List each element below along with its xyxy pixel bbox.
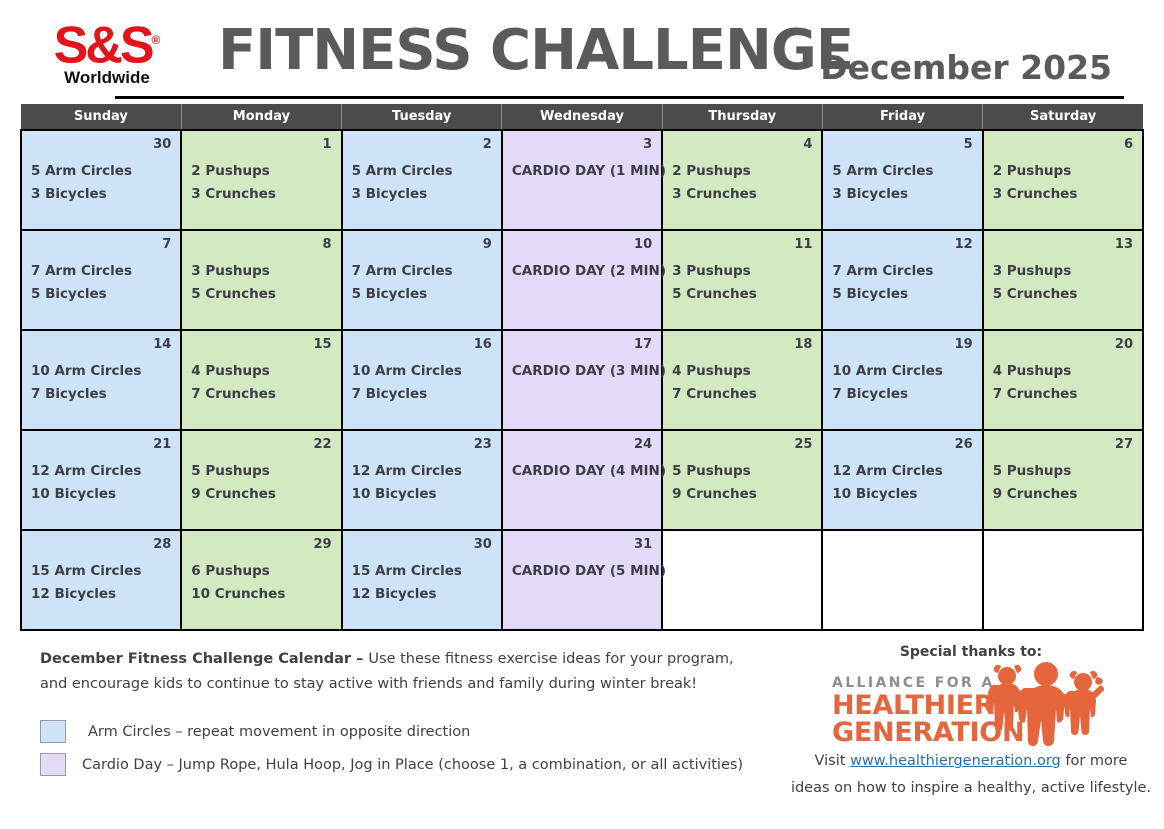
day-entries: 2 Pushups3 Crunches (993, 160, 1133, 206)
day-entry: 5 Bicycles (352, 283, 492, 306)
day-entry: 10 Arm Circles (31, 360, 171, 383)
day-number: 11 (672, 237, 812, 253)
day-number: 14 (31, 337, 171, 353)
day-entry: 15 Arm Circles (31, 560, 171, 583)
day-entries: 4 Pushups7 Crunches (672, 360, 812, 406)
day-entries: 12 Arm Circles10 Bicycles (31, 460, 171, 506)
calendar-day-cell-28[interactable]: 2815 Arm Circles12 Bicycles (21, 530, 181, 630)
ss-logo-mark: S&S® (54, 16, 161, 69)
day-entry: 5 Pushups (993, 460, 1133, 483)
day-entry: 10 Bicycles (352, 483, 492, 506)
day-entry: 4 Pushups (672, 360, 812, 383)
visit-text-line2: ideas on how to inspire a healthy, activ… (778, 777, 1164, 800)
day-entries: 5 Arm Circles3 Bicycles (31, 160, 171, 206)
day-number: 10 (512, 237, 652, 253)
calendar-day-cell-15[interactable]: 154 Pushups7 Crunches (181, 330, 341, 430)
day-entries: 10 Arm Circles7 Bicycles (352, 360, 492, 406)
day-entries: 12 Arm Circles10 Bicycles (832, 460, 972, 506)
day-entry: 7 Arm Circles (352, 260, 492, 283)
day-entry: 2 Pushups (672, 160, 812, 183)
day-entry: 3 Pushups (191, 260, 331, 283)
calendar-day-cell-empty (822, 530, 982, 630)
day-entries: 7 Arm Circles5 Bicycles (832, 260, 972, 306)
day-entry: 7 Bicycles (352, 383, 492, 406)
calendar-day-cell-26[interactable]: 2612 Arm Circles10 Bicycles (822, 430, 982, 530)
weekday-header-thursday: Thursday (662, 104, 822, 130)
day-entry: 3 Crunches (993, 183, 1133, 206)
page-footer: December Fitness Challenge Calendar – Us… (0, 634, 1164, 829)
calendar-day-cell-27[interactable]: 275 Pushups9 Crunches (983, 430, 1143, 530)
healthiergeneration-link[interactable]: www.healthiergeneration.org (850, 753, 1061, 769)
day-number: 7 (31, 237, 171, 253)
day-entry: 10 Bicycles (31, 483, 171, 506)
day-entry: 6 Pushups (191, 560, 331, 583)
ss-logo-text: S&S (54, 17, 152, 75)
legend: Arm Circles – repeat movement in opposit… (40, 715, 770, 781)
calendar-day-cell-8[interactable]: 83 Pushups5 Crunches (181, 230, 341, 330)
calendar-day-cell-16[interactable]: 1610 Arm Circles7 Bicycles (342, 330, 502, 430)
day-entry: 3 Bicycles (832, 183, 972, 206)
day-entry: 10 Bicycles (832, 483, 972, 506)
day-entry: 9 Crunches (993, 483, 1133, 506)
day-entry: 7 Bicycles (832, 383, 972, 406)
day-entries: CARDIO DAY (1 MIN) (512, 160, 652, 183)
day-entries: 7 Arm Circles5 Bicycles (352, 260, 492, 306)
legend-swatch-purple (40, 753, 66, 776)
day-number: 3 (512, 137, 652, 153)
day-number: 15 (191, 337, 331, 353)
day-number: 24 (512, 437, 652, 453)
calendar-day-cell-1[interactable]: 12 Pushups3 Crunches (181, 130, 341, 230)
page-title: FITNESS CHALLENGE (218, 18, 853, 83)
day-entry: 10 Arm Circles (832, 360, 972, 383)
day-number: 1 (191, 137, 331, 153)
day-entry: 5 Arm Circles (31, 160, 171, 183)
day-number: 23 (352, 437, 492, 453)
day-entries: 2 Pushups3 Crunches (672, 160, 812, 206)
calendar-day-cell-17[interactable]: 17CARDIO DAY (3 MIN) (502, 330, 662, 430)
day-number: 25 (672, 437, 812, 453)
visit-suffix: for more (1061, 753, 1128, 769)
calendar-day-cell-20[interactable]: 204 Pushups7 Crunches (983, 330, 1143, 430)
day-number: 4 (672, 137, 812, 153)
calendar-day-cell-19[interactable]: 1910 Arm Circles7 Bicycles (822, 330, 982, 430)
weekday-header-sunday: Sunday (21, 104, 181, 130)
calendar-day-cell-2[interactable]: 25 Arm Circles3 Bicycles (342, 130, 502, 230)
day-entry: 10 Crunches (191, 583, 331, 606)
calendar-day-cell-22[interactable]: 225 Pushups9 Crunches (181, 430, 341, 530)
day-entry: 7 Crunches (672, 383, 812, 406)
day-entry: 5 Arm Circles (832, 160, 972, 183)
day-entries: 3 Pushups5 Crunches (191, 260, 331, 306)
day-entries: 12 Arm Circles10 Bicycles (352, 460, 492, 506)
calendar-day-cell-6[interactable]: 62 Pushups3 Crunches (983, 130, 1143, 230)
legend-label-cardio-day: Cardio Day – Jump Rope, Hula Hoop, Jog i… (82, 757, 743, 773)
day-entries: 5 Arm Circles3 Bicycles (352, 160, 492, 206)
day-entry: 5 Bicycles (832, 283, 972, 306)
calendar-week-row: 1410 Arm Circles7 Bicycles154 Pushups7 C… (21, 330, 1143, 430)
page-header: S&S® Worldwide FITNESS CHALLENGE Decembe… (0, 0, 1164, 100)
legend-label-arm-circles: Arm Circles – repeat movement in opposit… (88, 724, 470, 740)
day-number: 27 (993, 437, 1133, 453)
day-number: 12 (832, 237, 972, 253)
calendar-body: 305 Arm Circles3 Bicycles12 Pushups3 Cru… (21, 130, 1143, 630)
calendar-day-cell-21[interactable]: 2112 Arm Circles10 Bicycles (21, 430, 181, 530)
ss-worldwide-logo: S&S® Worldwide (32, 12, 182, 87)
day-entries: 6 Pushups10 Crunches (191, 560, 331, 606)
day-entry: CARDIO DAY (3 MIN) (512, 360, 652, 383)
day-number: 18 (672, 337, 812, 353)
weekday-header-monday: Monday (181, 104, 341, 130)
calendar-day-cell-12[interactable]: 127 Arm Circles5 Bicycles (822, 230, 982, 330)
day-entry: CARDIO DAY (5 MIN) (512, 560, 652, 583)
footer-blurb-line2: and encourage kids to continue to stay a… (40, 672, 770, 697)
day-number: 6 (993, 137, 1133, 153)
footer-blurb-bold: December Fitness Challenge Calendar – (40, 651, 368, 667)
day-entries: 5 Pushups9 Crunches (993, 460, 1133, 506)
day-entry: 5 Crunches (191, 283, 331, 306)
calendar-day-cell-25[interactable]: 255 Pushups9 Crunches (662, 430, 822, 530)
calendar-day-cell-23[interactable]: 2312 Arm Circles10 Bicycles (342, 430, 502, 530)
calendar-week-row: 305 Arm Circles3 Bicycles12 Pushups3 Cru… (21, 130, 1143, 230)
visit-prefix: Visit (815, 753, 851, 769)
calendar-day-cell-empty (983, 530, 1143, 630)
day-entries: CARDIO DAY (2 MIN) (512, 260, 652, 283)
day-entry: 3 Pushups (993, 260, 1133, 283)
day-entry: 12 Arm Circles (31, 460, 171, 483)
registered-trademark-icon: ® (152, 33, 161, 47)
legend-item-cardio-day: Cardio Day – Jump Rope, Hula Hoop, Jog i… (40, 748, 770, 781)
legend-item-arm-circles: Arm Circles – repeat movement in opposit… (40, 715, 770, 748)
day-entry: CARDIO DAY (1 MIN) (512, 160, 652, 183)
day-entry: 3 Pushups (672, 260, 812, 283)
day-entry: 12 Bicycles (352, 583, 492, 606)
day-entry: 3 Crunches (672, 183, 812, 206)
visit-text: Visit www.healthiergeneration.org for mo… (778, 750, 1164, 773)
day-number: 21 (31, 437, 171, 453)
day-entry: 12 Arm Circles (352, 460, 492, 483)
day-entries: CARDIO DAY (4 MIN) (512, 460, 652, 483)
day-entry: 5 Arm Circles (352, 160, 492, 183)
footer-right-column: Special thanks to: ALLIANCE FOR A HEALTH… (778, 644, 1164, 800)
day-entry: 12 Arm Circles (832, 460, 972, 483)
day-entry: 5 Crunches (672, 283, 812, 306)
calendar-day-cell-29[interactable]: 296 Pushups10 Crunches (181, 530, 341, 630)
day-entries: 4 Pushups7 Crunches (191, 360, 331, 406)
calendar-table: SundayMondayTuesdayWednesdayThursdayFrid… (20, 104, 1144, 631)
calendar-day-cell-10[interactable]: 10CARDIO DAY (2 MIN) (502, 230, 662, 330)
calendar-day-cell-30[interactable]: 3015 Arm Circles12 Bicycles (342, 530, 502, 630)
day-entry: 4 Pushups (993, 360, 1133, 383)
calendar-day-cell-7[interactable]: 77 Arm Circles5 Bicycles (21, 230, 181, 330)
day-entry: CARDIO DAY (4 MIN) (512, 460, 652, 483)
day-entry: 7 Arm Circles (832, 260, 972, 283)
day-entry: 3 Bicycles (31, 183, 171, 206)
day-entry: 5 Pushups (672, 460, 812, 483)
day-number: 20 (993, 337, 1133, 353)
weekday-header-tuesday: Tuesday (342, 104, 502, 130)
day-entries: 5 Pushups9 Crunches (191, 460, 331, 506)
calendar-day-cell-9[interactable]: 97 Arm Circles5 Bicycles (342, 230, 502, 330)
day-number: 19 (832, 337, 972, 353)
calendar-week-row: 2815 Arm Circles12 Bicycles296 Pushups10… (21, 530, 1143, 630)
header-divider (115, 96, 1124, 99)
day-entries: CARDIO DAY (5 MIN) (512, 560, 652, 583)
day-entries: 7 Arm Circles5 Bicycles (31, 260, 171, 306)
day-number: 9 (352, 237, 492, 253)
running-figures-icon (986, 660, 1104, 748)
day-entry: 2 Pushups (993, 160, 1133, 183)
day-entry: 7 Arm Circles (31, 260, 171, 283)
special-thanks-label: Special thanks to: (778, 644, 1164, 660)
day-entry: 5 Pushups (191, 460, 331, 483)
calendar-page: S&S® Worldwide FITNESS CHALLENGE Decembe… (0, 0, 1164, 829)
day-number (832, 537, 972, 553)
weekday-header-saturday: Saturday (983, 104, 1143, 130)
day-number: 17 (512, 337, 652, 353)
calendar-day-cell-empty (662, 530, 822, 630)
day-entries: 15 Arm Circles12 Bicycles (31, 560, 171, 606)
day-entries: 15 Arm Circles12 Bicycles (352, 560, 492, 606)
day-entry: 3 Bicycles (352, 183, 492, 206)
day-number: 2 (352, 137, 492, 153)
day-entry: 7 Bicycles (31, 383, 171, 406)
calendar-day-cell-5[interactable]: 55 Arm Circles3 Bicycles (822, 130, 982, 230)
day-entry: 4 Pushups (191, 360, 331, 383)
calendar-day-cell-4[interactable]: 42 Pushups3 Crunches (662, 130, 822, 230)
day-number: 30 (31, 137, 171, 153)
day-number: 22 (191, 437, 331, 453)
calendar-day-cell-18[interactable]: 184 Pushups7 Crunches (662, 330, 822, 430)
calendar-day-cell-31[interactable]: 31CARDIO DAY (5 MIN) (502, 530, 662, 630)
day-entry: 5 Crunches (993, 283, 1133, 306)
day-number: 29 (191, 537, 331, 553)
day-number (993, 537, 1133, 553)
month-label: December 2025 (820, 48, 1112, 87)
calendar-day-cell-24[interactable]: 24CARDIO DAY (4 MIN) (502, 430, 662, 530)
day-entries: 3 Pushups5 Crunches (993, 260, 1133, 306)
day-entries: CARDIO DAY (3 MIN) (512, 360, 652, 383)
day-number: 30 (352, 537, 492, 553)
day-number: 28 (31, 537, 171, 553)
day-entry: 5 Bicycles (31, 283, 171, 306)
day-entry: 9 Crunches (672, 483, 812, 506)
day-entries: 5 Pushups9 Crunches (672, 460, 812, 506)
day-entries: 3 Pushups5 Crunches (672, 260, 812, 306)
day-entry: 10 Arm Circles (352, 360, 492, 383)
weekday-header-wednesday: Wednesday (502, 104, 662, 130)
calendar-day-cell-14[interactable]: 1410 Arm Circles7 Bicycles (21, 330, 181, 430)
day-number: 8 (191, 237, 331, 253)
day-entries: 10 Arm Circles7 Bicycles (832, 360, 972, 406)
footer-blurb-rest: Use these fitness exercise ideas for you… (368, 651, 733, 667)
footer-blurb: December Fitness Challenge Calendar – Us… (40, 647, 770, 672)
day-entry: 2 Pushups (191, 160, 331, 183)
day-entries: 2 Pushups3 Crunches (191, 160, 331, 206)
day-number (672, 537, 812, 553)
day-entry: 15 Arm Circles (352, 560, 492, 583)
day-number: 5 (832, 137, 972, 153)
calendar-day-cell-3[interactable]: 3CARDIO DAY (1 MIN) (502, 130, 662, 230)
calendar-week-row: 77 Arm Circles5 Bicycles83 Pushups5 Crun… (21, 230, 1143, 330)
day-entry: 7 Crunches (993, 383, 1133, 406)
day-entry: CARDIO DAY (2 MIN) (512, 260, 652, 283)
calendar-week-row: 2112 Arm Circles10 Bicycles225 Pushups9 … (21, 430, 1143, 530)
day-entries: 5 Arm Circles3 Bicycles (832, 160, 972, 206)
day-entries: 4 Pushups7 Crunches (993, 360, 1133, 406)
day-entry: 7 Crunches (191, 383, 331, 406)
day-number: 31 (512, 537, 652, 553)
day-entries: 10 Arm Circles7 Bicycles (31, 360, 171, 406)
day-number: 13 (993, 237, 1133, 253)
day-entry: 12 Bicycles (31, 583, 171, 606)
footer-left-column: December Fitness Challenge Calendar – Us… (40, 647, 770, 781)
day-number: 16 (352, 337, 492, 353)
calendar-day-cell-13[interactable]: 133 Pushups5 Crunches (983, 230, 1143, 330)
legend-swatch-blue (40, 720, 66, 743)
day-entry: 3 Crunches (191, 183, 331, 206)
day-number: 26 (832, 437, 972, 453)
calendar-day-cell-11[interactable]: 113 Pushups5 Crunches (662, 230, 822, 330)
weekday-header-row: SundayMondayTuesdayWednesdayThursdayFrid… (21, 104, 1143, 130)
weekday-header-friday: Friday (822, 104, 982, 130)
alliance-healthier-generation-logo: ALLIANCE FOR A HEALTHIER GENERATION (832, 666, 1110, 746)
calendar-day-cell-30[interactable]: 305 Arm Circles3 Bicycles (21, 130, 181, 230)
day-entry: 9 Crunches (191, 483, 331, 506)
